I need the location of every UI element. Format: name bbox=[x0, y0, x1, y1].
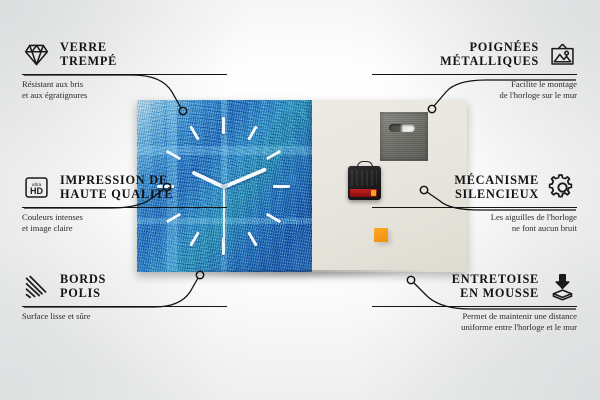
hour-tick-6 bbox=[222, 238, 225, 255]
callout-verre-trempe[interactable]: VERRETREMPÉ Résistant aux briset aux égr… bbox=[22, 40, 227, 100]
callout-title: VERRETREMPÉ bbox=[60, 41, 117, 68]
callout-header: ultra HD IMPRESSION DEHAUTE QUALITÉ bbox=[22, 173, 227, 202]
foam-spacer-icon bbox=[548, 272, 577, 301]
callout-title: POIGNÉESMÉTALLIQUES bbox=[440, 41, 539, 68]
callout-description: Résistant aux briset aux égratignures bbox=[22, 79, 227, 100]
hour-tick-4 bbox=[266, 213, 281, 224]
hour-tick-11 bbox=[189, 125, 200, 140]
hour-tick-1 bbox=[247, 125, 258, 140]
hour-tick-5 bbox=[247, 231, 258, 246]
mechanism-hanging-loop bbox=[357, 161, 373, 170]
glass-grid-band bbox=[137, 146, 312, 155]
callout-header: ENTRETOISEEN MOUSSE bbox=[372, 272, 577, 301]
callout-rule bbox=[22, 74, 227, 75]
metal-hanger-plate bbox=[380, 112, 428, 161]
callout-poignees-metalliques[interactable]: POIGNÉESMÉTALLIQUES Facilite le montaged… bbox=[372, 40, 577, 100]
hour-tick-3 bbox=[273, 185, 290, 188]
hour-tick-2 bbox=[266, 150, 281, 161]
callout-description: Permet de maintenir une distanceuniforme… bbox=[372, 311, 577, 332]
picture-hanger-icon bbox=[548, 40, 577, 69]
callout-description: Facilite le montagede l'horloge sur le m… bbox=[372, 79, 577, 100]
polished-edges-icon bbox=[22, 272, 51, 301]
callout-mecanisme-silencieux[interactable]: MÉCANISMESILENCIEUX Les aiguilles de l'h… bbox=[372, 173, 577, 233]
infographic-canvas: VERRETREMPÉ Résistant aux briset aux égr… bbox=[0, 0, 600, 400]
callout-header: MÉCANISMESILENCIEUX bbox=[372, 173, 577, 202]
gear-icon bbox=[548, 173, 577, 202]
minute-hand bbox=[223, 167, 267, 189]
callout-title: IMPRESSION DEHAUTE QUALITÉ bbox=[60, 174, 173, 201]
callout-description: Surface lisse et sûre bbox=[22, 311, 227, 321]
callout-rule bbox=[22, 306, 227, 307]
callout-description: Les aiguilles de l'horlogene font aucun … bbox=[372, 212, 577, 233]
callout-header: BORDSPOLIS bbox=[22, 272, 227, 301]
callout-description: Couleurs intenseset image claire bbox=[22, 212, 227, 233]
callout-rule bbox=[372, 74, 577, 75]
svg-text:HD: HD bbox=[30, 186, 44, 196]
callout-title: MÉCANISMESILENCIEUX bbox=[454, 174, 539, 201]
callout-header: VERRETREMPÉ bbox=[22, 40, 227, 69]
ultra-hd-icon: ultra HD bbox=[22, 173, 51, 202]
callout-rule bbox=[22, 207, 227, 208]
callout-bords-polis[interactable]: BORDSPOLIS Surface lisse et sûre bbox=[22, 272, 227, 322]
callout-rule bbox=[372, 207, 577, 208]
callout-rule bbox=[372, 306, 577, 307]
hanger-slot bbox=[389, 124, 415, 132]
callout-title: BORDSPOLIS bbox=[60, 273, 106, 300]
callout-impression-haute-qualite[interactable]: ultra HD IMPRESSION DEHAUTE QUALITÉ Coul… bbox=[22, 173, 227, 233]
callout-title: ENTRETOISEEN MOUSSE bbox=[452, 273, 539, 300]
hour-tick-10 bbox=[166, 150, 181, 161]
diamond-icon bbox=[22, 40, 51, 69]
hour-tick-7 bbox=[189, 231, 200, 246]
callout-entretoise-en-mousse[interactable]: ENTRETOISEEN MOUSSE Permet de maintenir … bbox=[372, 272, 577, 332]
callout-header: POIGNÉESMÉTALLIQUES bbox=[372, 40, 577, 69]
hour-tick-12 bbox=[222, 117, 225, 134]
